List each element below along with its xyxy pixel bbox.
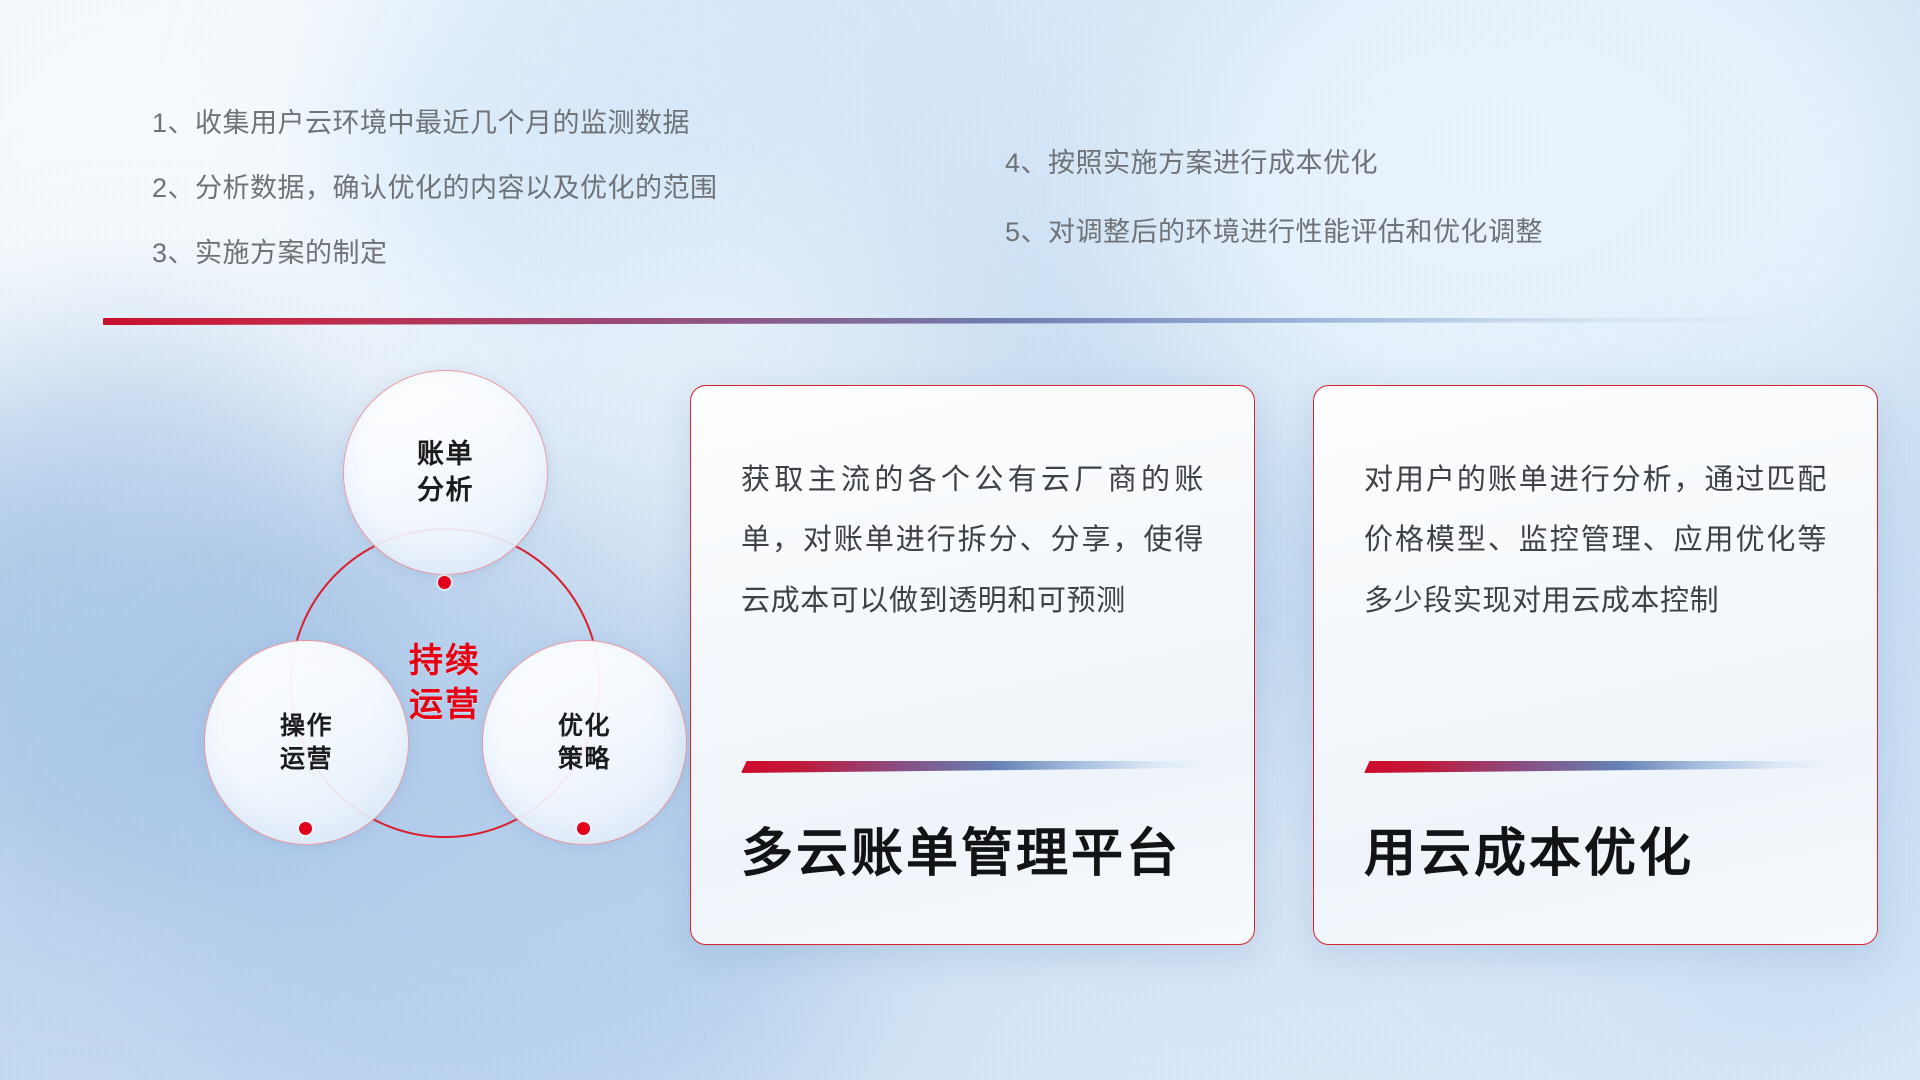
venn-label-line2: 运营 xyxy=(280,744,333,775)
process-steps-right-column: 4、按照实施方案进行成本优化 5、对调整后的环境进行性能评估和优化调整 xyxy=(1005,150,1543,288)
list-item: 1、收集用户云环境中最近几个月的监测数据 xyxy=(152,110,718,137)
connector-dot-bottom-left xyxy=(299,822,312,835)
venn-circle-label: 优化 策略 xyxy=(483,641,686,844)
venn-label-line2: 策略 xyxy=(558,744,611,775)
connector-dot-bottom-right xyxy=(577,822,590,835)
venn-label-line2: 分析 xyxy=(417,474,474,507)
venn-circle-optimization-strategy[interactable]: 优化 策略 xyxy=(482,640,687,845)
card-body-text: 获取主流的各个公有云厂商的账单，对账单进行拆分、分享，使得云成本可以做到透明和可… xyxy=(741,450,1204,631)
venn-circle-label: 账单 分析 xyxy=(344,371,547,574)
card-accent-rule xyxy=(1364,761,1833,773)
list-item: 3、实施方案的制定 xyxy=(152,240,718,267)
list-item: 4、按照实施方案进行成本优化 xyxy=(1005,150,1543,177)
venn-circle-label: 操作 运营 xyxy=(205,641,408,844)
process-steps-left-column: 1、收集用户云环境中最近几个月的监测数据 2、分析数据，确认优化的内容以及优化的… xyxy=(152,110,718,305)
card-body-text: 对用户的账单进行分析，通过匹配价格模型、监控管理、应用优化等多少段实现对用云成本… xyxy=(1364,450,1827,631)
list-item: 5、对调整后的环境进行性能评估和优化调整 xyxy=(1005,219,1543,246)
card-accent-rule xyxy=(741,761,1210,773)
list-item: 2、分析数据，确认优化的内容以及优化的范围 xyxy=(152,175,718,202)
card-cloud-cost-optimization[interactable]: 对用户的账单进行分析，通过匹配价格模型、监控管理、应用优化等多少段实现对用云成本… xyxy=(1313,385,1878,945)
card-title: 用云成本优化 xyxy=(1364,826,1694,883)
venn-label-line1: 优化 xyxy=(558,711,611,742)
venn-circle-operations[interactable]: 操作 运营 xyxy=(204,640,409,845)
venn-diagram: 持续 运营 账单 分析 操作 运营 优化 策略 xyxy=(100,360,645,940)
venn-label-line1: 操作 xyxy=(280,711,333,742)
connector-dot-top xyxy=(438,576,451,589)
card-multi-cloud-bill-platform[interactable]: 获取主流的各个公有云厂商的账单，对账单进行拆分、分享，使得云成本可以做到透明和可… xyxy=(690,385,1255,945)
venn-label-line1: 账单 xyxy=(417,438,474,471)
venn-circle-bill-analysis[interactable]: 账单 分析 xyxy=(343,370,548,575)
card-title: 多云账单管理平台 xyxy=(741,826,1181,883)
feature-cards: 获取主流的各个公有云厂商的账单，对账单进行拆分、分享，使得云成本可以做到透明和可… xyxy=(690,385,1878,945)
